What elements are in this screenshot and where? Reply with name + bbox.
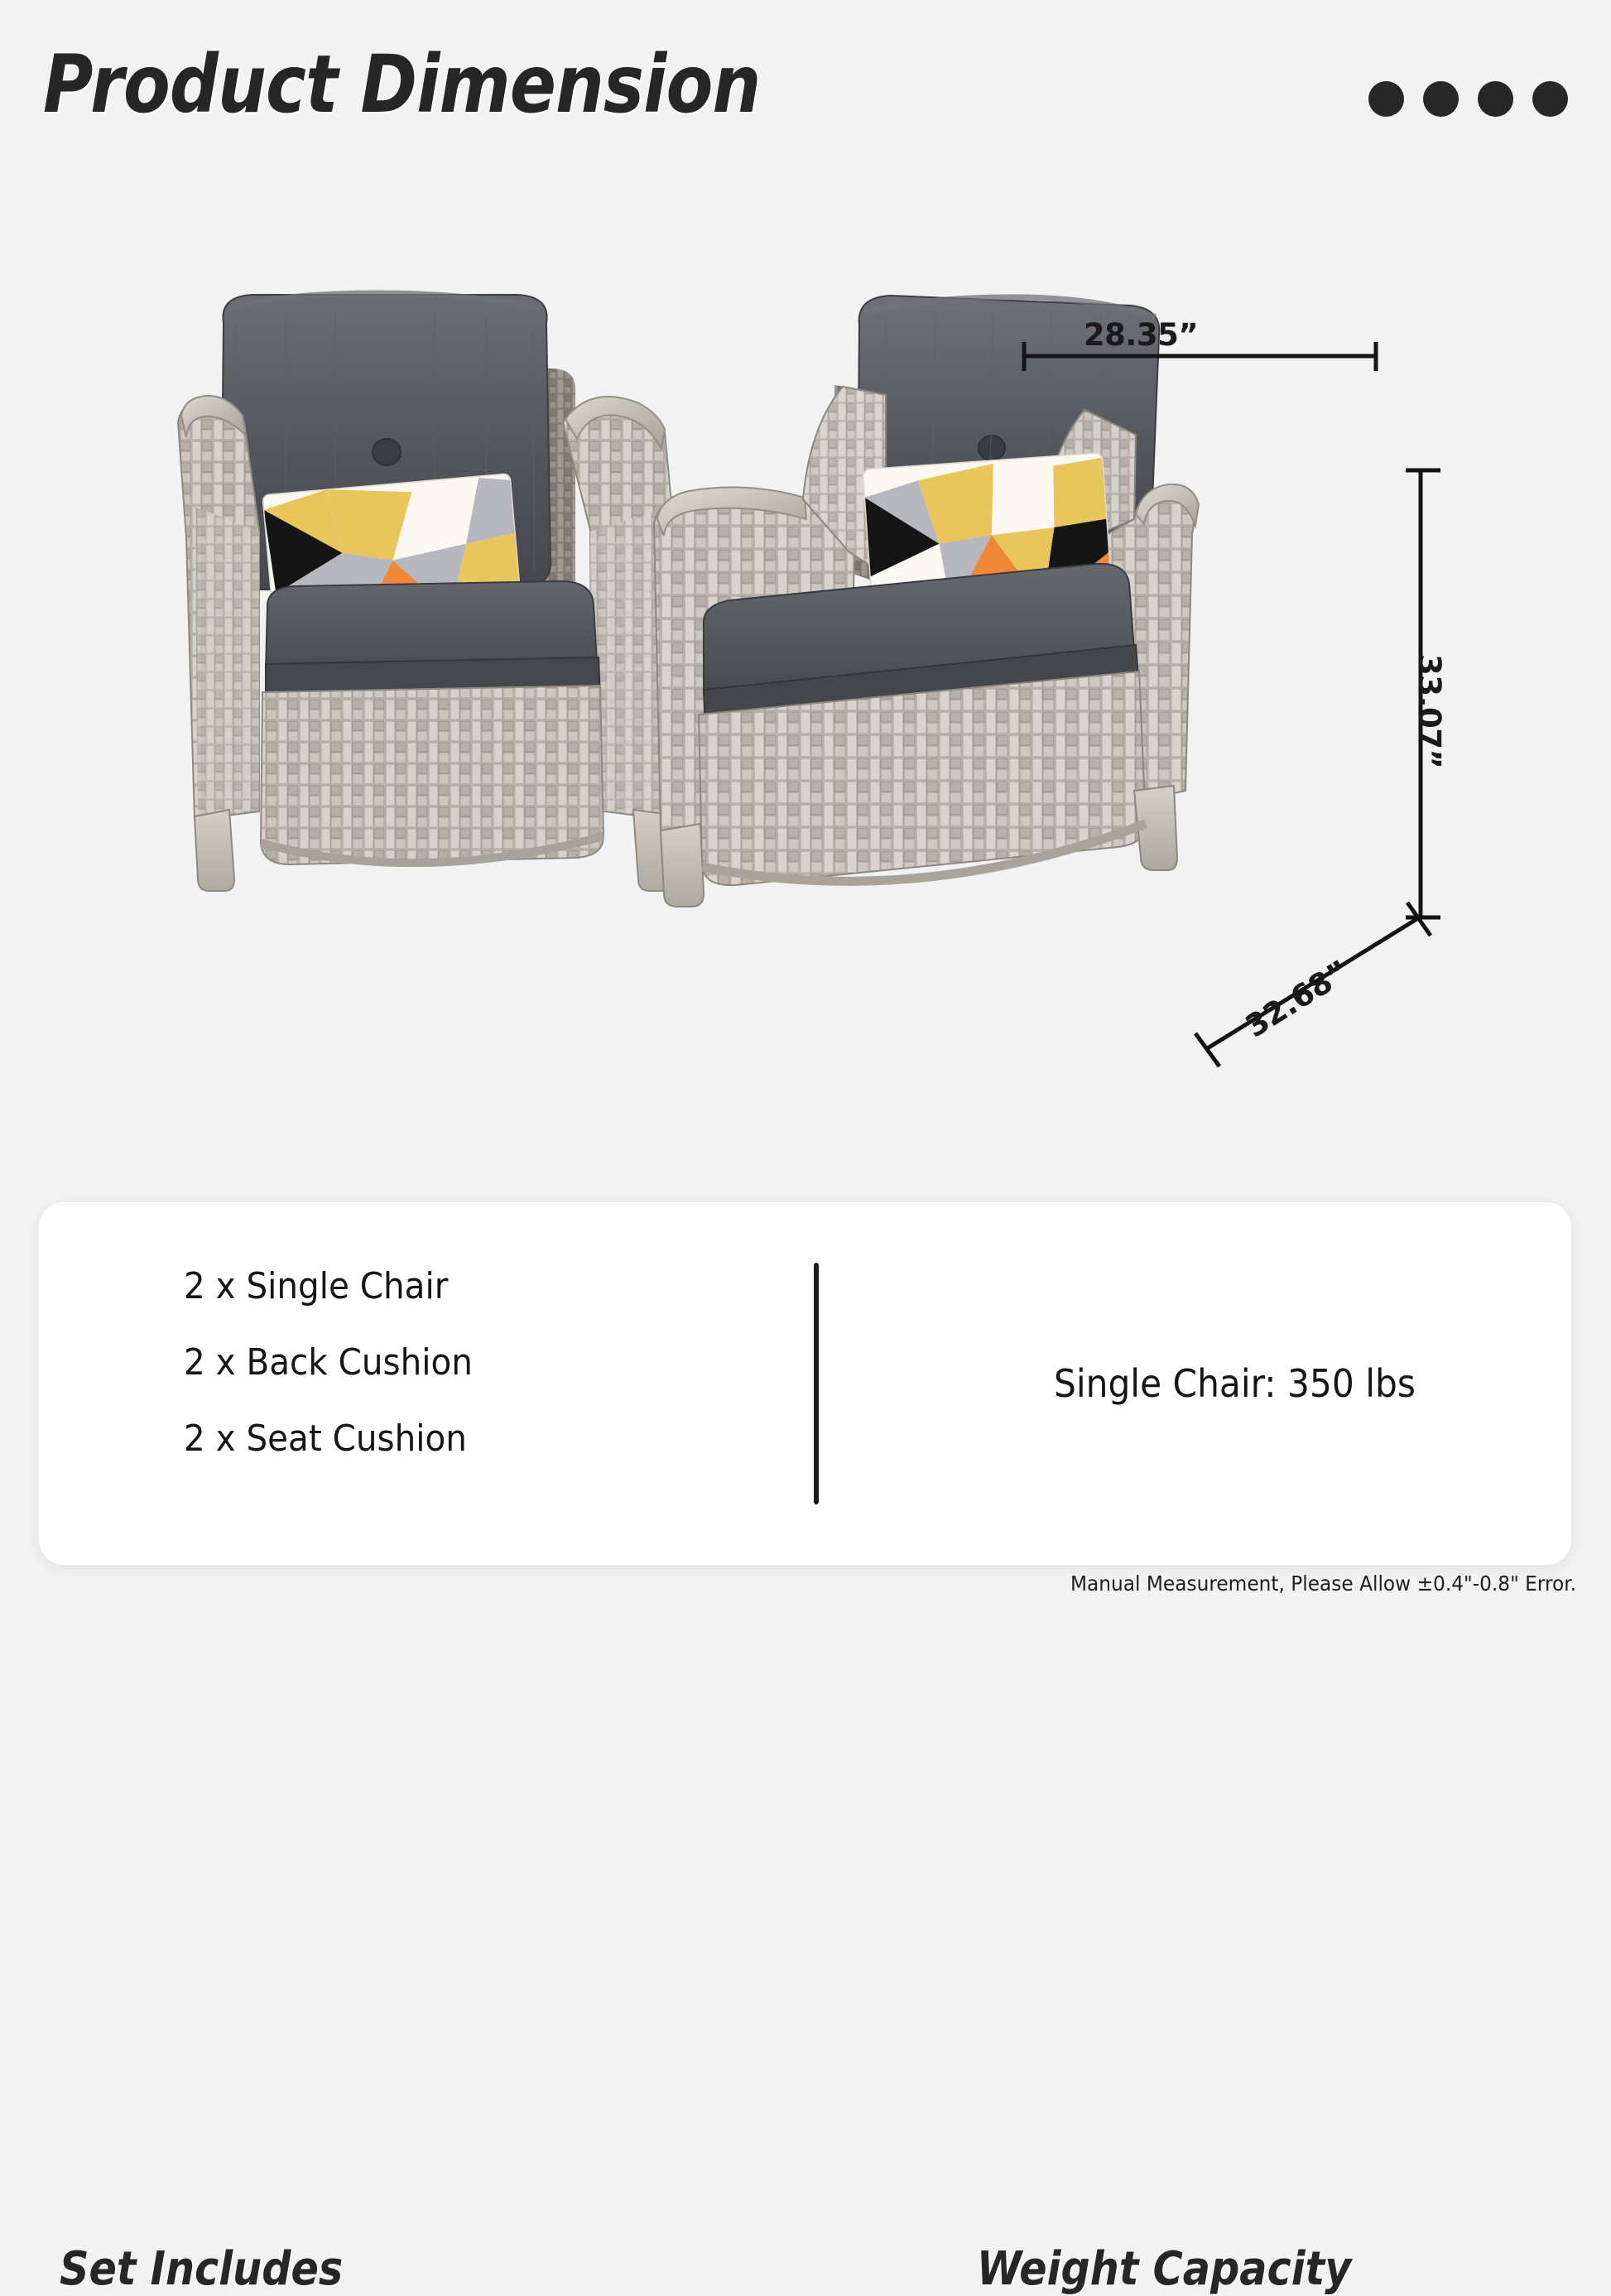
header: Product Dimension: [0, 0, 1611, 182]
product-image-left-chair: [170, 290, 700, 903]
list-item: 2 x Single Chair: [184, 1268, 473, 1305]
card-divider: [814, 1263, 819, 1504]
dot-icon: [1478, 81, 1513, 117]
weight-capacity-value: Single Chair: 350 lbs: [1054, 1202, 1416, 1565]
measurement-footnote: Manual Measurement, Please Allow ±0.4"-0…: [1070, 1572, 1576, 1596]
dot-icon: [1423, 81, 1459, 117]
header-dots-decoration: [1368, 81, 1568, 117]
weight-capacity-heading: Weight Capacity: [977, 2242, 1351, 2296]
list-item: 2 x Back Cushion: [184, 1345, 473, 1381]
set-includes-heading: Set Includes: [60, 2242, 343, 2296]
page-title: Product Dimension: [43, 38, 760, 131]
list-item: 2 x Seat Cushion: [184, 1421, 473, 1457]
info-card: 2 x Single Chair 2 x Back Cushion 2 x Se…: [39, 1202, 1571, 1565]
dot-icon: [1532, 81, 1568, 117]
product-image-right-chair: [637, 294, 1200, 923]
product-image-area: [0, 166, 1611, 1093]
dot-icon: [1368, 81, 1404, 117]
section-headings: Set Includes Weight Capacity: [0, 1114, 1611, 1206]
set-includes-list: 2 x Single Chair 2 x Back Cushion 2 x Se…: [184, 1268, 498, 1497]
